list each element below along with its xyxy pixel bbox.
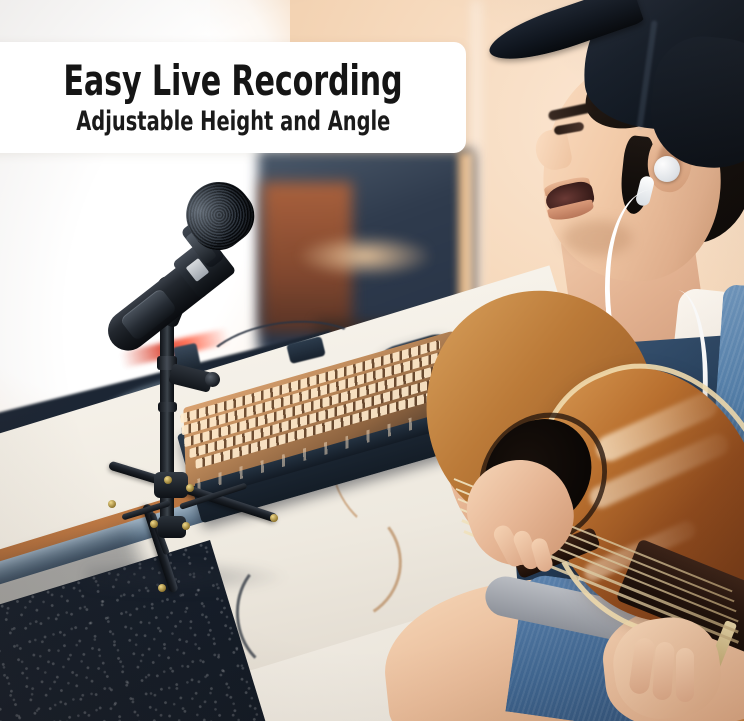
product-lifestyle-banner: Easy Live Recording Adjustable Height an… bbox=[0, 0, 744, 721]
tripod-screw bbox=[182, 522, 190, 530]
mic-stand-angle-knob bbox=[205, 372, 220, 387]
tripod-screw bbox=[186, 484, 194, 492]
background-monitor-glow bbox=[300, 235, 430, 277]
tripod-screw bbox=[108, 500, 116, 508]
tripod-screw bbox=[164, 476, 172, 484]
tripod-hub-upper bbox=[154, 472, 188, 498]
page-subtitle: Adjustable Height and Angle bbox=[76, 108, 390, 135]
tripod-screw bbox=[150, 520, 158, 528]
tripod-base bbox=[92, 470, 292, 590]
page-title: Easy Live Recording bbox=[63, 60, 402, 102]
headline-panel: Easy Live Recording Adjustable Height an… bbox=[0, 42, 466, 153]
tripod-screw bbox=[270, 514, 278, 522]
finger bbox=[676, 648, 694, 702]
finger bbox=[652, 641, 675, 700]
tripod-screw bbox=[158, 584, 166, 592]
hands-layer bbox=[436, 0, 744, 721]
mic-stand-collar-lower bbox=[158, 402, 177, 412]
